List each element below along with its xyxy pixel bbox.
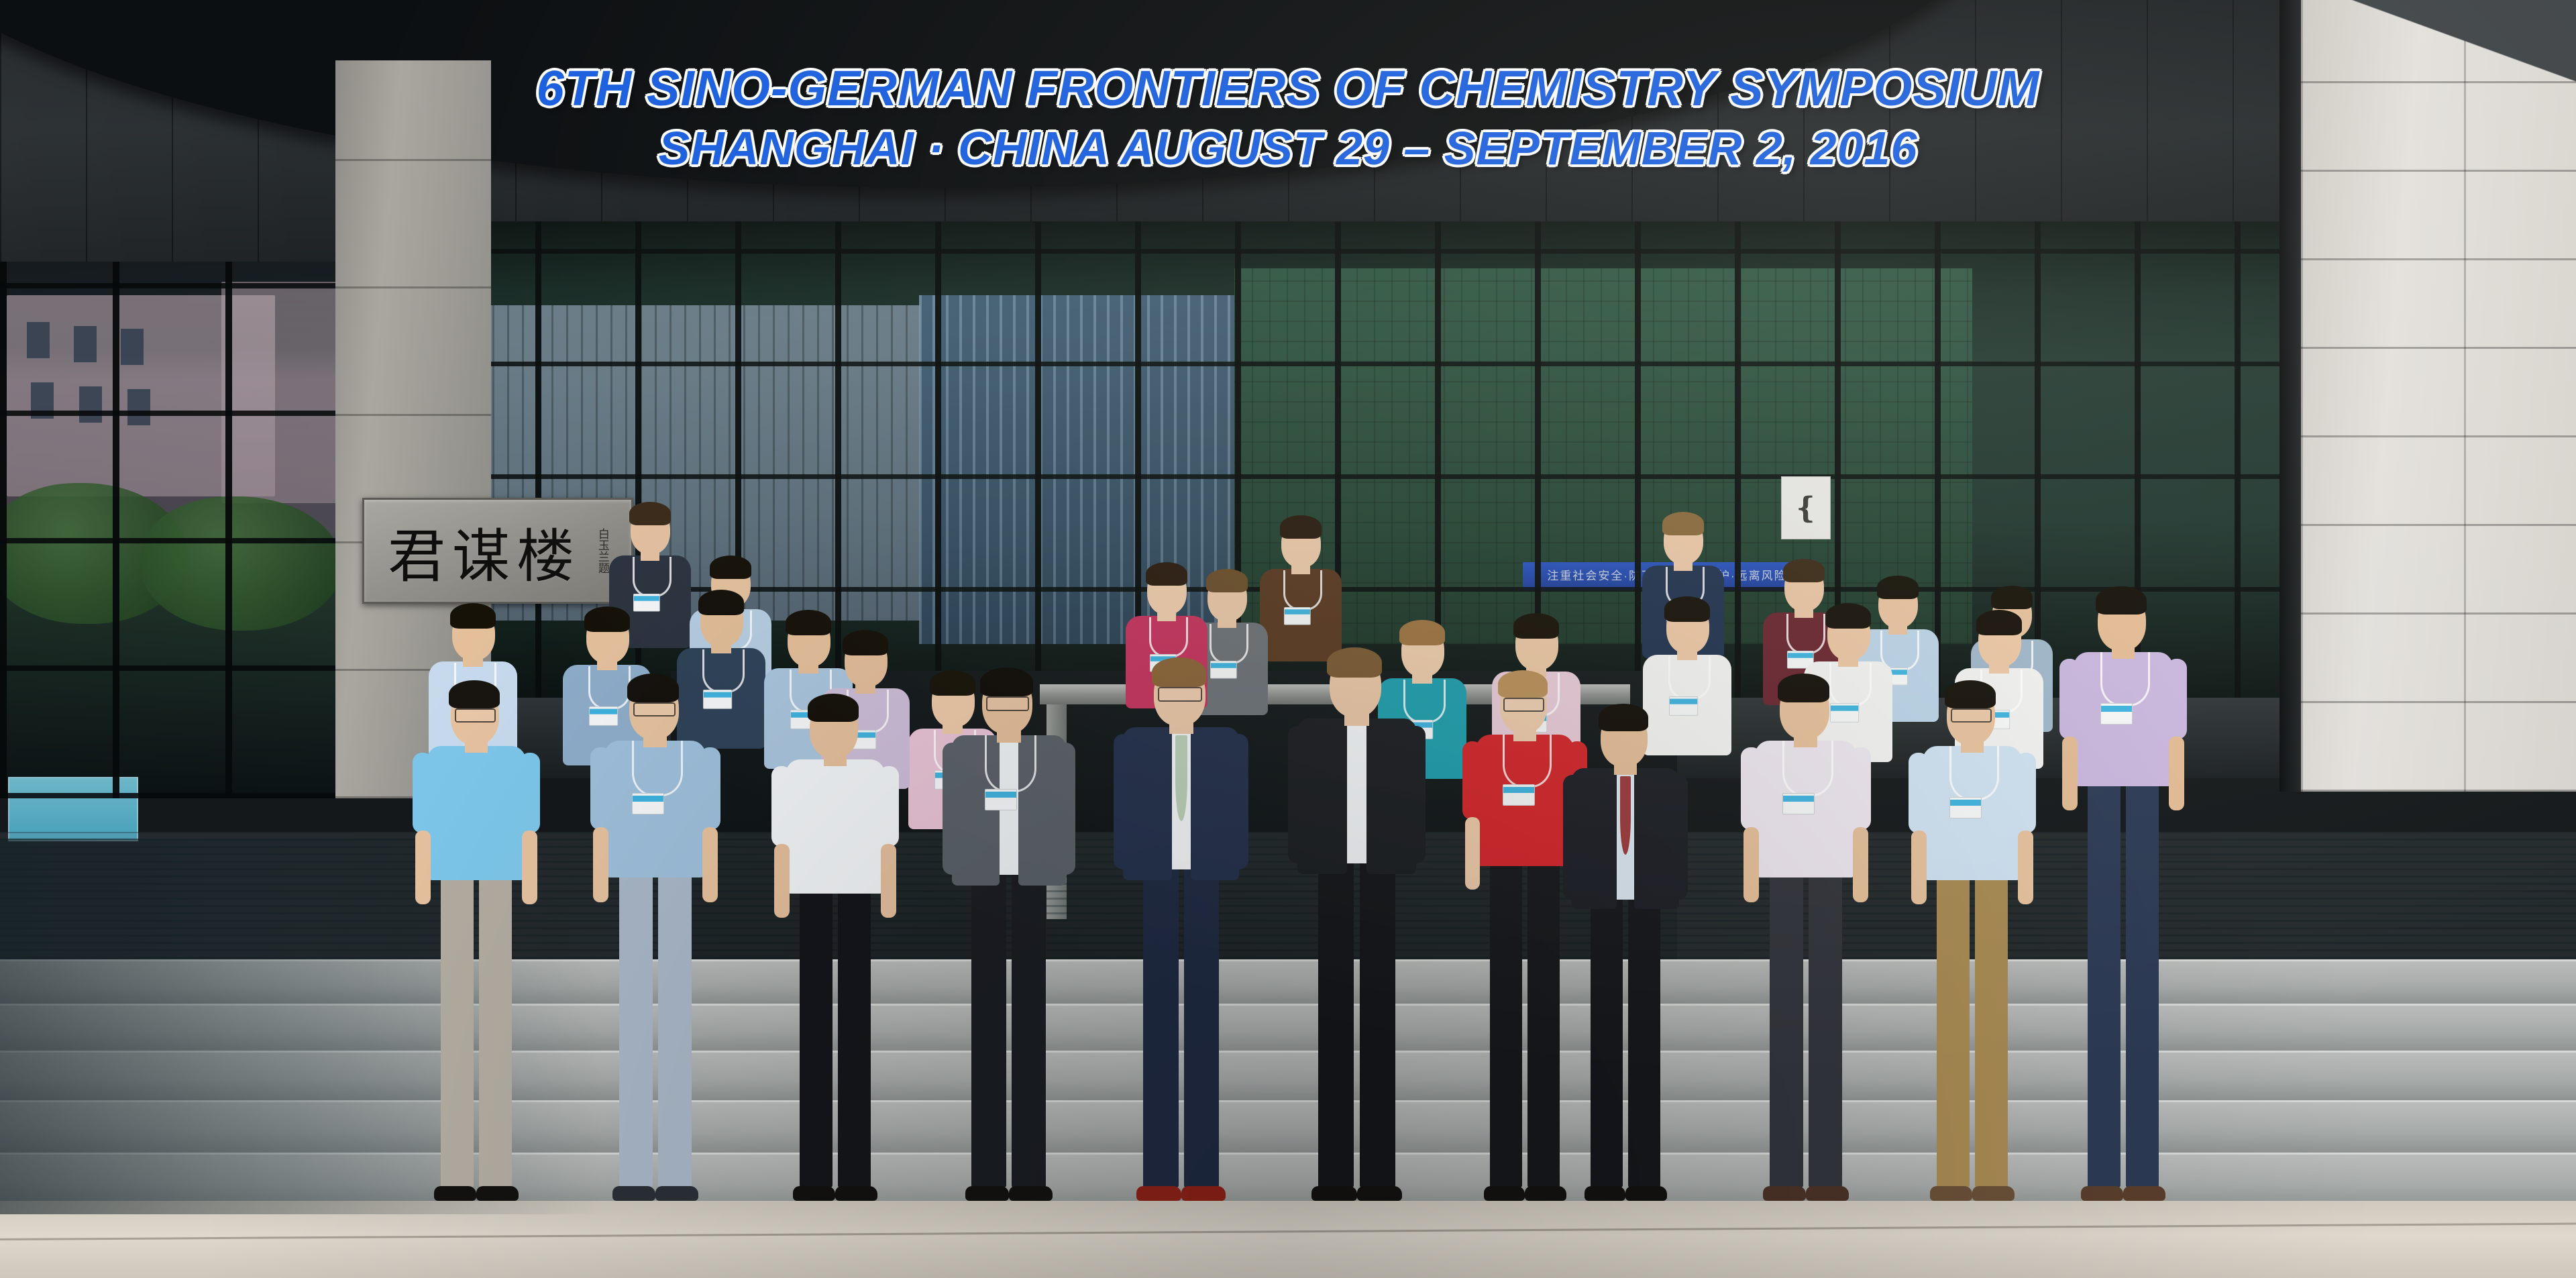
sleeve: [1741, 747, 1762, 829]
forearm: [2169, 737, 2184, 810]
hair: [1825, 603, 1871, 629]
hair: [1877, 576, 1919, 599]
eyeglasses: [1503, 698, 1544, 712]
jacket-sleeve: [1114, 734, 1136, 869]
trousers: [1318, 855, 1354, 1187]
lanyard: [1503, 735, 1552, 788]
shoe: [1311, 1186, 1357, 1201]
forearm: [1743, 827, 1759, 902]
shoe: [1806, 1186, 1849, 1201]
person-man-dark-suit-tie: [1563, 694, 1688, 1201]
sleeve: [1909, 753, 1929, 833]
shoe: [434, 1186, 476, 1201]
shoe: [1585, 1186, 1625, 1201]
shoe: [2081, 1186, 2123, 1201]
name-badge: [985, 789, 1017, 810]
person-man-blue-shirt-khaki: [1909, 671, 2036, 1201]
person-man-navy-suit-red-shoes: [1114, 647, 1248, 1201]
trousers: [1809, 869, 1842, 1187]
trousers: [1937, 872, 1970, 1187]
shoe: [1625, 1186, 1666, 1201]
trousers: [1770, 869, 1803, 1187]
jacket-sleeve: [943, 743, 965, 875]
attendee-group: [0, 0, 2576, 1278]
trousers: [2088, 778, 2121, 1187]
hair: [1327, 647, 1382, 678]
shoe: [1525, 1186, 1566, 1201]
shoe: [965, 1186, 1009, 1201]
hair: [843, 630, 888, 655]
jacket-sleeve: [1226, 734, 1248, 869]
person-man-plaid-shirt: [590, 664, 720, 1201]
jacket-sleeve: [1563, 775, 1585, 900]
hair: [1513, 613, 1559, 639]
shoe: [1009, 1186, 1053, 1201]
hair: [627, 674, 679, 702]
trousers: [1012, 867, 1046, 1187]
lanyard: [633, 557, 672, 597]
shoe: [1972, 1186, 2015, 1201]
person-man-white-shirt: [771, 684, 899, 1201]
hair: [1280, 515, 1322, 539]
shirt: [427, 746, 526, 880]
trousers: [1527, 858, 1560, 1187]
lanyard: [632, 741, 683, 796]
sleeve: [2016, 753, 2036, 833]
hair: [698, 590, 744, 615]
shoe: [1484, 1186, 1525, 1201]
shoe: [1930, 1186, 1972, 1201]
forearm: [774, 844, 790, 918]
shoe: [1181, 1186, 1226, 1201]
hair: [450, 603, 496, 629]
person-man-striped-shirt: [1741, 664, 1871, 1201]
jacket-sleeve: [1053, 743, 1075, 875]
hair: [1945, 680, 1996, 708]
sleeve: [1850, 747, 1871, 829]
forearm: [593, 827, 608, 902]
lanyard: [2100, 652, 2150, 706]
shoe: [655, 1186, 698, 1201]
shoe: [612, 1186, 655, 1201]
trousers: [1360, 855, 1395, 1187]
sleeve: [2059, 659, 2080, 739]
hair: [1498, 670, 1548, 698]
eyeglasses: [633, 702, 676, 716]
lanyard: [985, 735, 1036, 792]
hair: [584, 606, 630, 632]
necktie: [1175, 735, 1187, 820]
person-man-grey-suit: [943, 657, 1075, 1201]
trousers: [800, 886, 833, 1187]
trousers: [971, 867, 1006, 1187]
name-badge: [632, 793, 664, 814]
lanyard: [1782, 741, 1833, 796]
forearm: [1853, 827, 1868, 902]
person-man-purple-stripe-polo: [2059, 577, 2187, 1201]
forearm: [881, 844, 896, 918]
hair: [629, 502, 671, 525]
sleeve: [2167, 659, 2187, 739]
forearm: [2018, 831, 2033, 904]
shoe: [2123, 1186, 2165, 1201]
sleeve: [413, 753, 433, 833]
name-badge: [2100, 703, 2133, 725]
trousers: [619, 869, 653, 1187]
sleeve: [590, 747, 611, 829]
person-man-black-suit: [1288, 637, 1426, 1201]
trousers: [441, 872, 474, 1187]
hair: [1976, 610, 2022, 635]
sleeve: [771, 766, 792, 847]
trousers: [1184, 861, 1219, 1187]
eyeglasses: [1158, 687, 1201, 702]
forearm: [415, 831, 431, 904]
hair: [1599, 704, 1648, 731]
hair: [1662, 512, 1704, 535]
trousers: [1975, 872, 2008, 1187]
shirt: [786, 759, 885, 894]
hair: [1146, 562, 1187, 586]
trousers: [1143, 861, 1178, 1187]
jacket-sleeve: [1288, 726, 1311, 863]
lanyard: [1949, 746, 1999, 800]
forearm: [1465, 817, 1480, 890]
name-badge: [1284, 607, 1311, 625]
hair: [808, 694, 859, 722]
forearm: [522, 831, 537, 904]
name-badge: [1949, 797, 1982, 818]
hair: [1664, 596, 1710, 622]
eyeglasses: [986, 696, 1029, 711]
hair: [1152, 657, 1205, 688]
trousers: [838, 886, 871, 1187]
hair: [980, 668, 1033, 697]
trousers: [2126, 778, 2159, 1187]
hair: [449, 680, 500, 708]
sleeve: [700, 747, 720, 829]
shoe: [1136, 1186, 1181, 1201]
eyeglasses: [455, 708, 496, 723]
name-badge: [1782, 793, 1815, 814]
hair: [710, 555, 751, 579]
sleeve: [520, 753, 540, 833]
lanyard: [1283, 570, 1322, 610]
shoe: [476, 1186, 519, 1201]
shoe: [1357, 1186, 1403, 1201]
shoe: [1763, 1186, 1806, 1201]
jacket-sleeve: [1667, 775, 1688, 900]
trousers: [1628, 892, 1660, 1187]
forearm: [2062, 737, 2078, 810]
trousers: [658, 869, 692, 1187]
trousers: [1490, 858, 1522, 1187]
forearm: [702, 827, 718, 902]
shoe: [835, 1186, 877, 1201]
group-photo-canvas: 注重社会安全·防万全，起到防护·远离风险 ❴ 君谋楼 白玉兰题 6TH SINO…: [0, 0, 2576, 1278]
forearm: [1911, 831, 1927, 904]
name-badge: [1503, 784, 1535, 806]
eyeglasses: [1951, 708, 1992, 723]
lanyard: [1668, 656, 1711, 700]
hair: [1778, 674, 1829, 702]
sleeve: [879, 766, 899, 847]
trousers: [1591, 892, 1623, 1187]
sleeve: [1462, 741, 1483, 820]
shoe: [793, 1186, 835, 1201]
trousers: [479, 872, 512, 1187]
jacket-sleeve: [1402, 726, 1426, 863]
hair: [2096, 586, 2147, 615]
hair: [1783, 559, 1825, 582]
person-man-lightblue-polo: [413, 671, 540, 1201]
